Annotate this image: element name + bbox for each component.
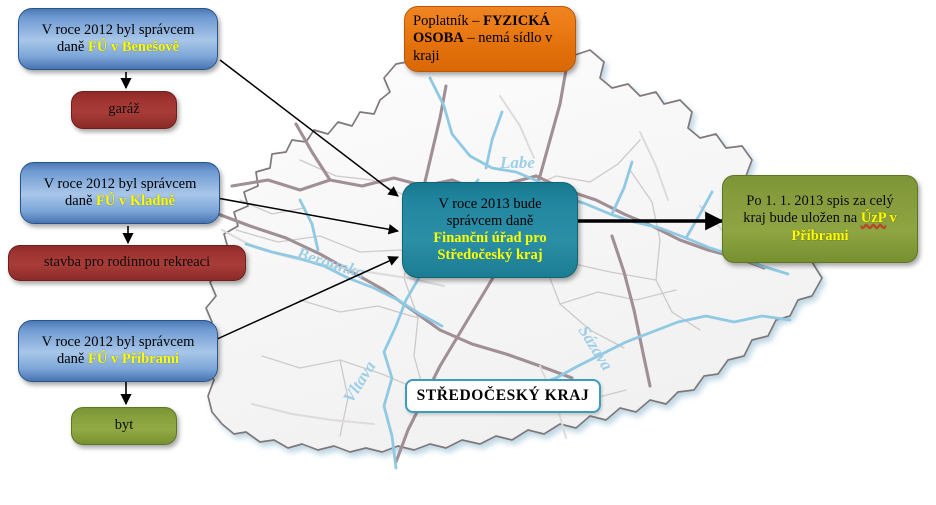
source-benesov-highlight: FÚ v Benešově (88, 39, 179, 55)
source-pribram-highlight: FÚ v Příbrami (88, 351, 179, 367)
source-kladno-highlight: FÚ v Kladně (96, 193, 175, 209)
object-garaz-label: garáž (108, 101, 139, 118)
center-box-financni-urad[interactable]: V roce 2013 bude správcem daně Finanční … (402, 182, 578, 278)
object-stavba-label: stavba pro rodinnou rekreaci (44, 254, 210, 271)
source-kladno-line1: V roce 2012 byl správcem (44, 176, 197, 192)
object-box-garaz[interactable]: garáž (71, 91, 177, 129)
source-pribram-line1: V roce 2012 byl správcem (42, 334, 195, 350)
taxpayer-box[interactable]: Poplatník – FYZICKÁ OSOBA – nemá sídlo v… (404, 6, 576, 72)
source-box-kladno[interactable]: V roce 2012 byl správcem daně FÚ v Kladn… (20, 162, 220, 224)
source-box-pribram[interactable]: V roce 2012 byl správcem daně FÚ v Příbr… (18, 320, 218, 382)
source-box-benesov[interactable]: V roce 2012 byl správcem daně FÚ v Beneš… (18, 8, 218, 70)
object-box-byt[interactable]: byt (71, 407, 177, 445)
center-line1: V roce 2013 bude (438, 196, 541, 212)
river-label-labe: Labe (499, 153, 535, 172)
map-title-label: STŘEDOČESKÝ KRAJ (417, 387, 590, 405)
center-line2: správcem daně (447, 213, 534, 229)
result-line1: Po 1. 1. 2013 spis za celý (746, 193, 893, 209)
result-line2-prefix: kraj bude uložen na (743, 210, 861, 226)
center-highlight-line2: Středočeský kraj (437, 247, 542, 263)
taxpayer-part1: Poplatník – (413, 13, 483, 29)
result-highlight-pribrami: Příbrami (791, 228, 848, 244)
source-kladno-line2-prefix: daně (65, 193, 96, 209)
source-benesov-line1: V roce 2012 byl správcem (42, 22, 195, 38)
center-highlight-line1: Finanční úřad pro (433, 230, 546, 246)
object-byt-label: byt (115, 417, 134, 434)
result-highlight-uzp: ÚzP (861, 210, 886, 226)
map-title-plate: STŘEDOČESKÝ KRAJ (405, 379, 601, 413)
object-box-stavba[interactable]: stavba pro rodinnou rekreaci (8, 245, 246, 281)
source-pribram-line2-prefix: daně (57, 351, 88, 367)
diagram-canvas: Berounka Vltava Sázava Labe (0, 0, 936, 505)
result-highlight-v: v (886, 210, 897, 226)
source-benesov-line2-prefix: daně (57, 39, 88, 55)
result-box-uzp-pribram[interactable]: Po 1. 1. 2013 spis za celý kraj bude ulo… (722, 175, 918, 263)
